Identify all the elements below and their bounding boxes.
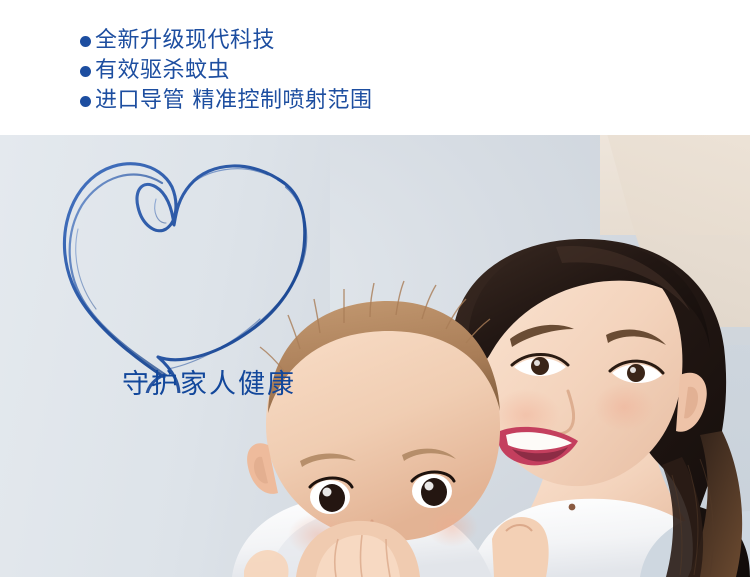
product-banner: 全新升级现代科技 有效驱杀蚊虫 进口导管 精准控制喷射范围 (0, 0, 750, 577)
heart-graphic (38, 143, 348, 393)
feature-item-1: 全新升级现代科技 (80, 26, 373, 56)
feature-text-1: 全新升级现代科技 (95, 30, 275, 52)
heart-outline-icon (38, 143, 348, 393)
feature-item-2: 有效驱杀蚊虫 (80, 56, 373, 86)
feature-text-3: 进口导管 精准控制喷射范围 (95, 90, 373, 112)
feature-list: 全新升级现代科技 有效驱杀蚊虫 进口导管 精准控制喷射范围 (80, 26, 373, 116)
feature-text-2: 有效驱杀蚊虫 (95, 60, 230, 82)
hero-photo-region: 守护家人健康 (0, 135, 750, 577)
feature-header: 全新升级现代科技 有效驱杀蚊虫 进口导管 精准控制喷射范围 (0, 0, 750, 135)
hero-slogan: 守护家人健康 (122, 371, 296, 398)
bullet-dot-icon (80, 66, 91, 77)
bullet-dot-icon (80, 36, 91, 47)
bullet-dot-icon (80, 96, 91, 107)
feature-item-3: 进口导管 精准控制喷射范围 (80, 86, 373, 116)
